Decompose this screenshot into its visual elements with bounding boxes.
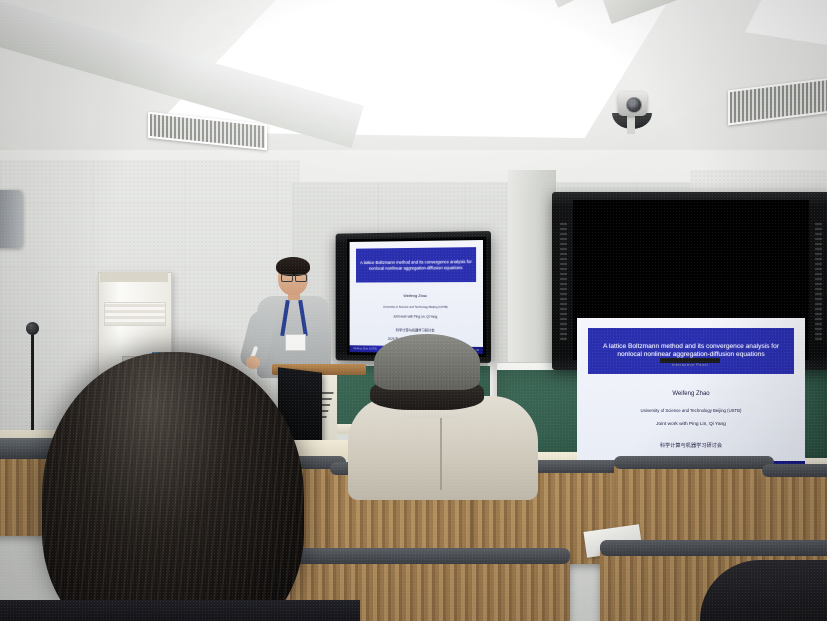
air-conditioner-grille-icon bbox=[104, 302, 166, 326]
slide-affiliation: University of Science and Technology Bei… bbox=[577, 408, 805, 413]
camera-lens-icon bbox=[626, 97, 642, 113]
display-speaker-left-icon bbox=[560, 222, 567, 340]
slide-event-secondary: 科学计算与机器学习研讨会 bbox=[350, 327, 483, 333]
slide-author: Weifeng Zhao bbox=[577, 391, 805, 397]
slide-title-secondary: A lattice Boltzmann method and its conve… bbox=[356, 247, 476, 283]
slide-event: 科学计算与机器学习研讨会 bbox=[577, 442, 805, 449]
attendee-with-cap bbox=[348, 334, 538, 494]
slide-joint-work-secondary: Joint work with Ping Lin, Qi Yang bbox=[350, 315, 483, 320]
display-speaker-right-icon bbox=[815, 222, 822, 340]
camera-mount bbox=[627, 116, 635, 134]
primary-slide: A lattice Boltzmann method and its conve… bbox=[577, 318, 805, 470]
foreground-attendee-hair bbox=[42, 352, 304, 621]
presenter bbox=[243, 258, 339, 378]
display-brand-label: Interactive Panel bbox=[640, 362, 740, 367]
presenter-name-badge bbox=[285, 334, 306, 351]
air-conditioner-top bbox=[100, 272, 168, 282]
slide-author-secondary: Weifeng Zhao bbox=[350, 293, 483, 298]
foreground-attendee-shoulders bbox=[0, 600, 360, 621]
chair-rail-front bbox=[600, 540, 827, 556]
chair-rail bbox=[762, 464, 827, 477]
glasses-icon-left bbox=[281, 274, 293, 282]
slide-affiliation-secondary: University of Science and Technology Bei… bbox=[350, 305, 483, 309]
attendee-jacket-seam bbox=[440, 418, 442, 490]
microphone-icon[interactable] bbox=[26, 322, 39, 335]
slide-joint-work: Joint work with Ping Lin, Qi Yang bbox=[577, 422, 805, 427]
chair-rail-front bbox=[270, 548, 570, 564]
knit-cap-icon bbox=[374, 334, 480, 390]
glasses-icon-right bbox=[295, 274, 307, 282]
presenter-hand bbox=[246, 356, 260, 369]
wall-speaker-icon bbox=[0, 190, 22, 248]
microphone-stand bbox=[31, 330, 34, 442]
chair-rail bbox=[614, 456, 774, 469]
lecture-hall-photo: A lattice Boltzmann method and its conve… bbox=[0, 0, 827, 621]
